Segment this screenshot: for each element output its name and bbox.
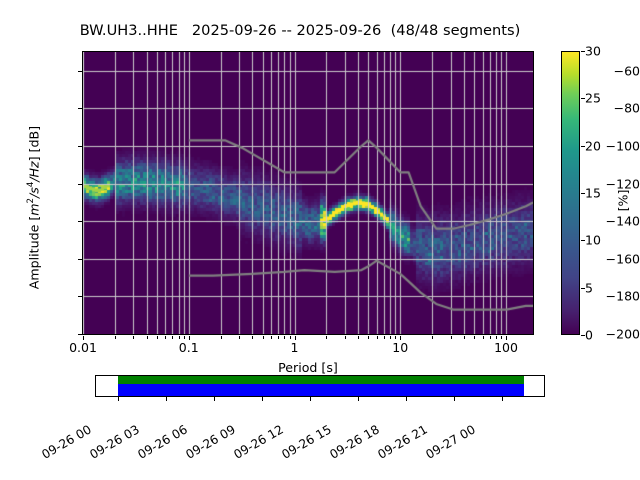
x-axis-tick-mark [83,336,84,340]
x-axis-minor-tick-mark [490,336,491,339]
y-axis-tick-mark [78,296,82,297]
y-axis-tick-label: −60 [582,63,640,78]
y-axis-tick-mark [78,184,82,185]
timeline-tick-mark [214,397,215,401]
x-axis-minor-tick-mark [483,336,484,339]
colorbar-tick-mark [581,98,585,99]
y-axis-tick-mark [78,334,82,335]
colorbar-tick-label: 10 [585,233,601,248]
x-axis-tick-mark [189,336,190,340]
y-axis-tick-mark [78,221,82,222]
x-axis-minor-tick-mark [184,336,185,339]
colorbar-tick-mark [581,146,585,147]
timeline-tick-mark [310,397,311,401]
x-axis-minor-tick-mark [239,336,240,339]
x-axis-minor-tick-mark [172,336,173,339]
x-axis-minor-tick-mark [496,336,497,339]
timeline-tick-label: 09-26 12 [231,422,285,462]
y-axis-tick-mark [78,259,82,260]
y-axis-tick-label: −140 [582,214,640,229]
colorbar-tick-mark [581,193,585,194]
y-axis-label-text: Amplitude [m2/s4/Hz] [dB] [27,126,42,289]
timeline-tick-mark [454,397,455,401]
x-axis-tick-label: 0.1 [179,340,199,355]
colorbar-tick-label: 25 [585,91,601,106]
x-axis-minor-tick-mark [290,336,291,339]
colorbar-tick-mark [581,51,585,52]
colorbar-tick-mark [581,335,585,336]
x-axis-minor-tick-mark [464,336,465,339]
y-axis-tick-mark [78,71,82,72]
x-axis-minor-tick-mark [501,336,502,339]
y-axis-label: Amplitude [m2/s4/Hz] [dB] [11,86,56,346]
x-axis-label: Period [s] [82,360,534,375]
x-axis-tick-mark [295,336,296,340]
x-axis-minor-tick-mark [157,336,158,339]
colorbar-label: [%] [616,161,631,241]
colorbar-tick-label: 5 [585,280,593,295]
x-axis-minor-tick-mark [179,336,180,339]
colorbar-tick-label: 0 [585,328,593,343]
x-axis-minor-tick-mark [284,336,285,339]
x-axis-minor-tick-mark [345,336,346,339]
colorbar-tick-label: 20 [585,138,601,153]
timeline-tick-mark [166,397,167,401]
x-axis-tick-mark [400,336,401,340]
x-axis-minor-tick-mark [368,336,369,339]
x-axis-minor-tick-mark [133,336,134,339]
timeline-tick-label: 09-26 03 [87,422,141,462]
x-axis-minor-tick-mark [147,336,148,339]
timeline-tick-mark [406,397,407,401]
x-axis-minor-tick-mark [252,336,253,339]
ppsd-density-canvas [83,52,533,334]
x-axis-minor-tick-mark [474,336,475,339]
timeline-tick-label: 09-26 21 [375,422,429,462]
x-axis-minor-tick-mark [221,336,222,339]
colorbar-tick-label: 30 [585,44,601,59]
page-title: BW.UH3..HHE 2025-09-26 -- 2025-09-26 (48… [0,22,600,39]
y-axis-tick-mark [78,146,82,147]
timeline-tick-label: 09-26 15 [279,422,333,462]
ppsd-figure: BW.UH3..HHE 2025-09-26 -- 2025-09-26 (48… [0,0,640,480]
y-axis-tick-label: −160 [582,251,640,266]
timeline-tick-label: 09-27 00 [423,422,477,462]
timeline-segments-bar [118,384,524,396]
x-axis-minor-tick-mark [358,336,359,339]
colorbar-tick-mark [581,288,585,289]
x-axis-tick-label: 10 [392,340,408,355]
x-axis-minor-tick-mark [390,336,391,339]
x-axis-minor-tick-mark [395,336,396,339]
x-axis-minor-tick-mark [278,336,279,339]
ppsd-plot-area[interactable] [82,51,534,335]
timeline-tick-label: 09-26 00 [39,422,93,462]
x-axis-minor-tick-mark [326,336,327,339]
timeline-tick-mark [262,397,263,401]
x-axis-tick-label: 0.01 [69,340,97,355]
colorbar-tick-label: 15 [585,186,601,201]
timeline-tick-label: 09-26 18 [327,422,381,462]
x-axis-tick-label: 100 [494,340,518,355]
x-axis-minor-tick-mark [165,336,166,339]
timeline-tick-mark [502,397,503,401]
x-axis-minor-tick-mark [271,336,272,339]
timeline-tick-mark [118,397,119,401]
colorbar-tick-mark [581,240,585,241]
timeline-tick-mark [358,397,359,401]
x-axis-minor-tick-mark [384,336,385,339]
y-axis-tick-mark [78,108,82,109]
timeline-tick-label: 09-26 09 [183,422,237,462]
x-axis-minor-tick-mark [377,336,378,339]
x-axis-minor-tick-mark [263,336,264,339]
x-axis-minor-tick-mark [115,336,116,339]
x-axis-minor-tick-mark [451,336,452,339]
x-axis-tick-mark [506,336,507,340]
timeline-plot-area[interactable] [95,375,545,397]
timeline-coverage-bar [118,376,524,384]
x-axis-minor-tick-mark [432,336,433,339]
timeline-tick-label: 09-26 06 [135,422,189,462]
x-axis-tick-label: 1 [291,340,299,355]
colorbar[interactable] [561,51,580,335]
